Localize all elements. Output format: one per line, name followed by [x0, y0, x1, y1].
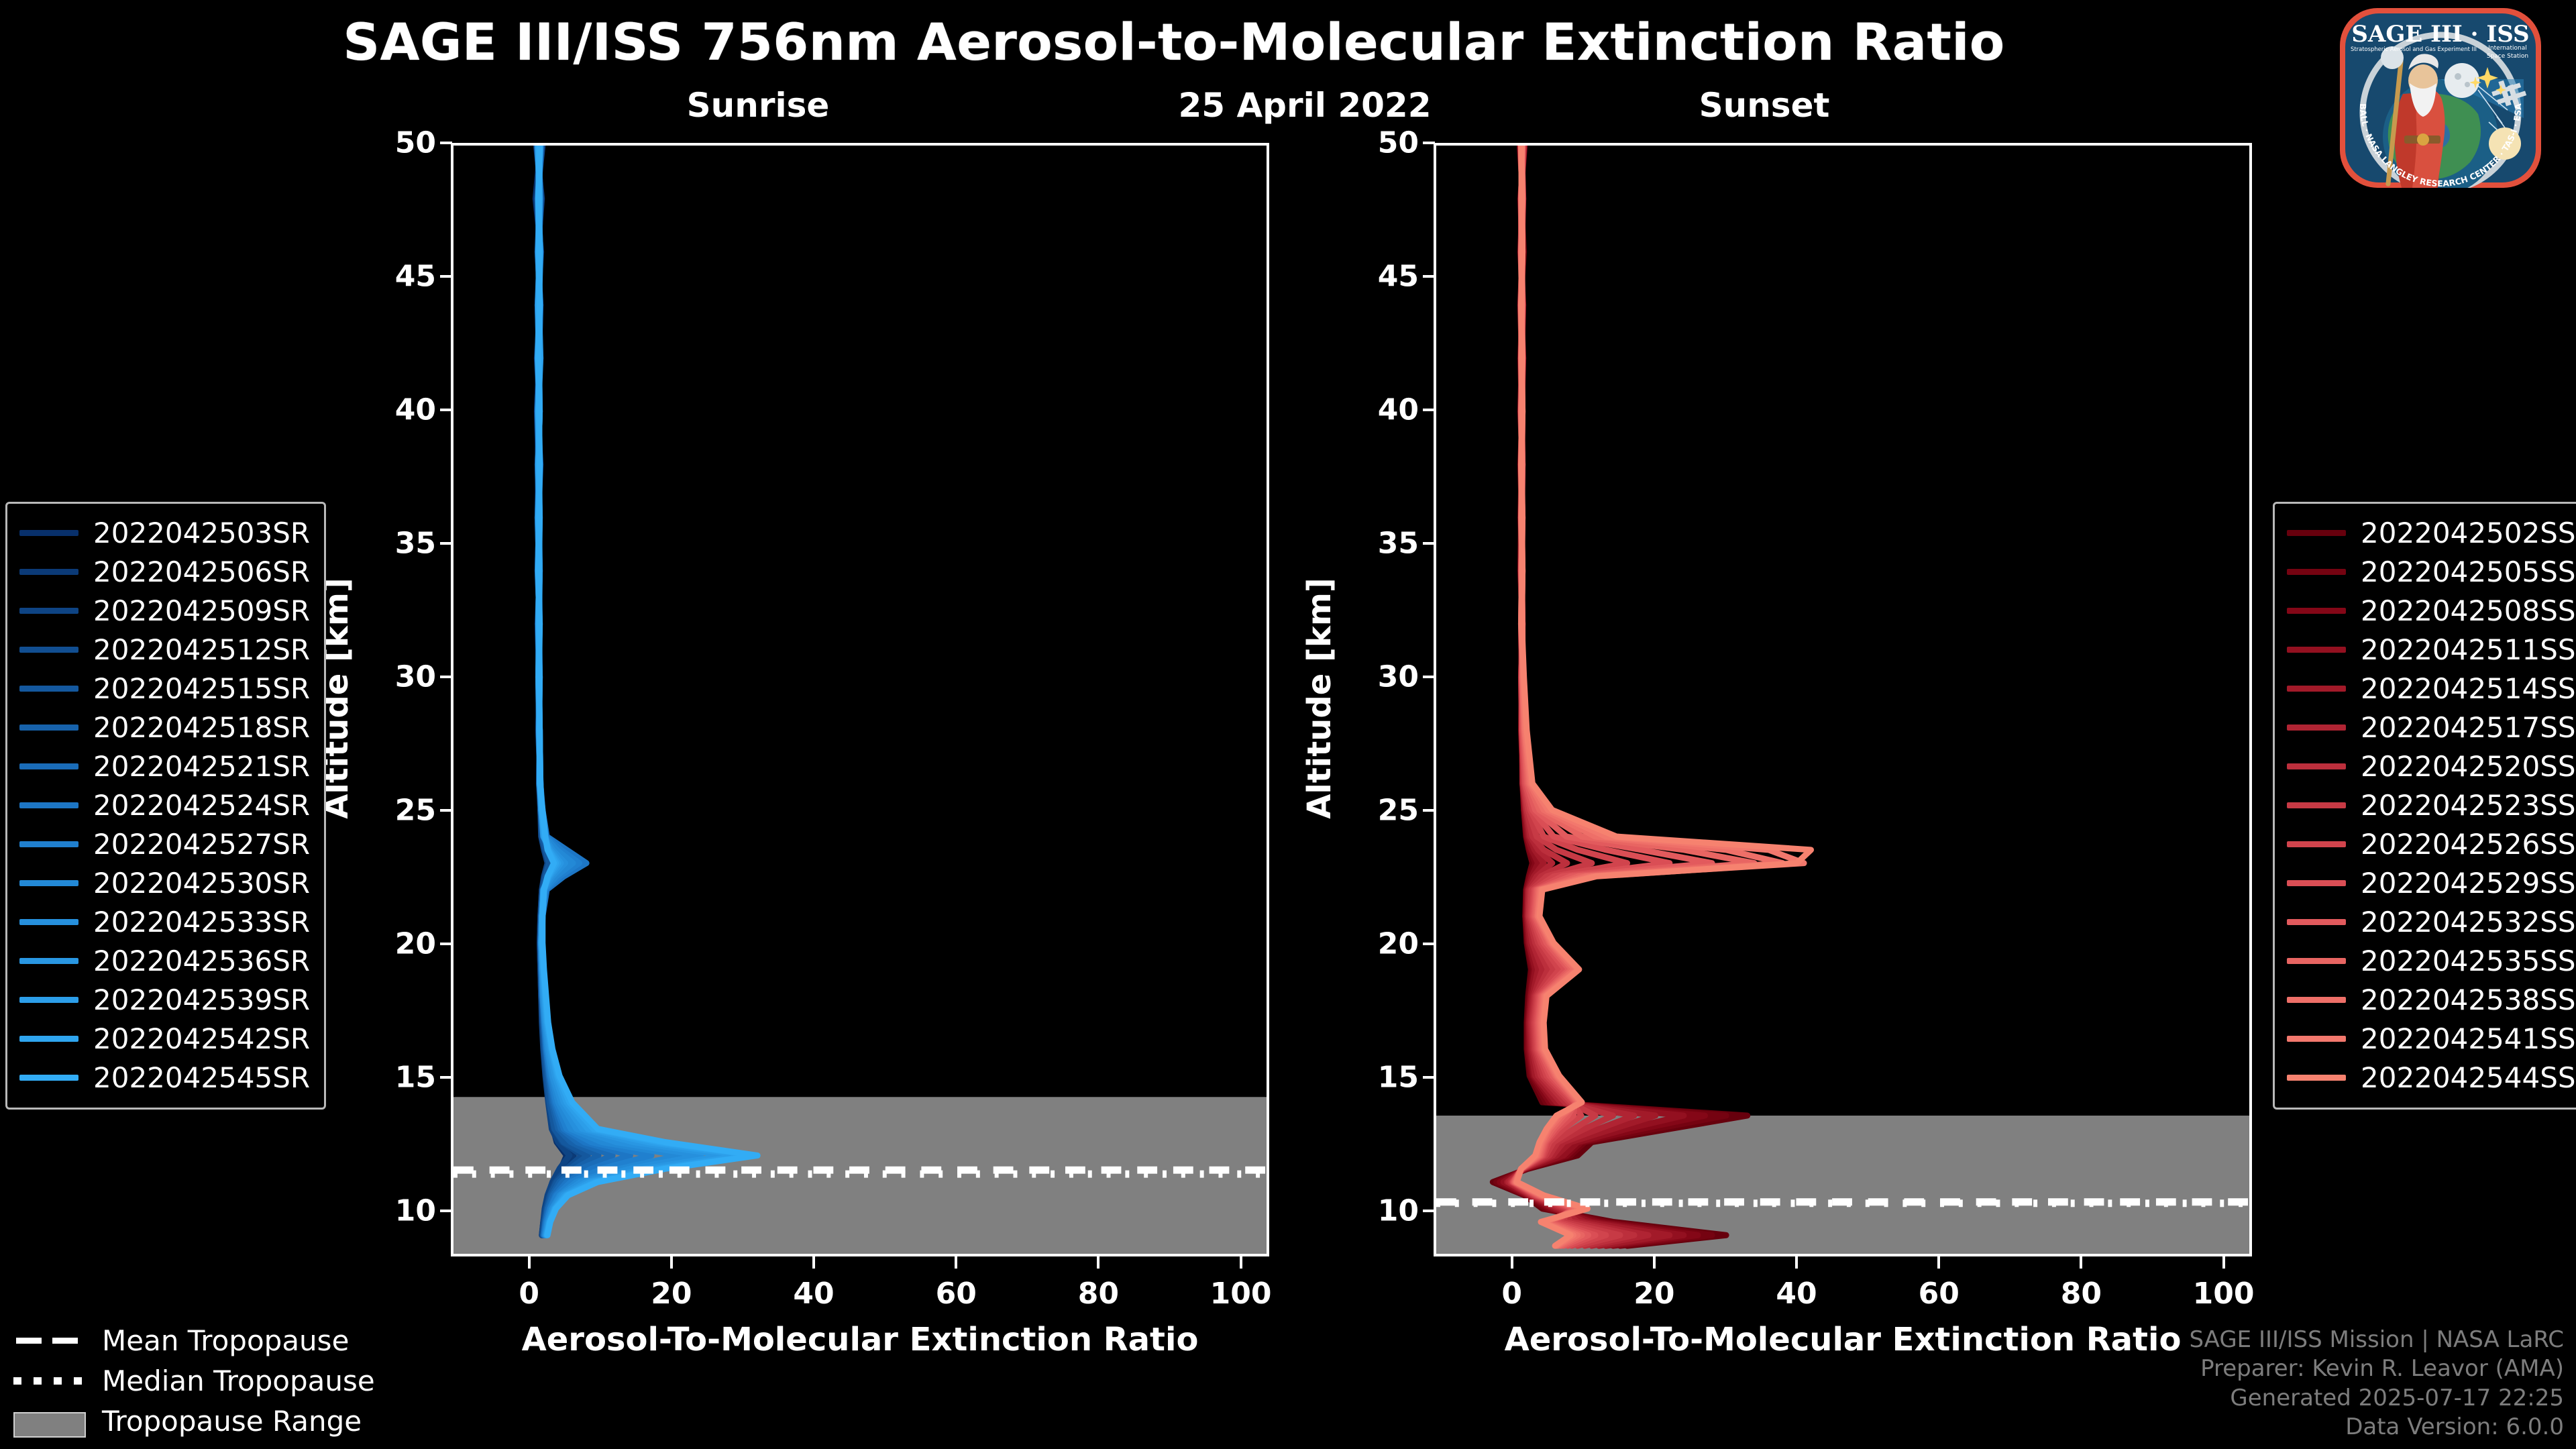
sunset-profile-chart: [1436, 146, 2249, 1254]
legend-item-2022042533sr[interactable]: 2022042533SR: [19, 902, 312, 941]
sunrise-series-legend[interactable]: 2022042503SR2022042506SR2022042509SR2022…: [5, 502, 326, 1110]
x-axis-tick-label: 40: [1776, 1277, 1817, 1311]
legend-item-2022042526ss[interactable]: 2022042526SS: [2287, 824, 2576, 863]
y-axis-tick-mark: [1423, 1210, 1435, 1212]
y-axis-tick-mark: [440, 676, 452, 678]
legend-series-label: 2022042527SR: [93, 828, 310, 861]
legend-series-label: 2022042542SR: [93, 1022, 310, 1055]
legend-series-label: 2022042514SS: [2361, 672, 2576, 705]
y-axis-tick-mark: [1423, 542, 1435, 545]
y-axis-title: Altitude [km]: [1301, 557, 1338, 839]
y-axis-tick-mark: [440, 809, 452, 812]
legend-series-label: 2022042530SR: [93, 867, 310, 900]
legend-item-mean-tropopause: Mean Tropopause: [13, 1320, 429, 1360]
legend-item-2022042517ss[interactable]: 2022042517SS: [2287, 708, 2576, 747]
legend-item-2022042514ss[interactable]: 2022042514SS: [2287, 669, 2576, 708]
x-axis-tick-label: 80: [1078, 1277, 1119, 1311]
legend-color-swatch: [2287, 880, 2346, 886]
legend-item-2022042506sr[interactable]: 2022042506SR: [19, 552, 312, 591]
y-axis-tick-mark: [440, 275, 452, 278]
legend-item-2022042521sr[interactable]: 2022042521SR: [19, 747, 312, 786]
x-axis-tick-mark: [1795, 1256, 1798, 1269]
x-axis-tick-label: 20: [651, 1277, 692, 1311]
y-axis-tick-label: 50: [1338, 126, 1434, 160]
y-axis-tick-label: 35: [356, 527, 451, 561]
y-axis-tick-label: 40: [356, 393, 451, 427]
legend-series-label: 2022042545SR: [93, 1061, 310, 1094]
legend-item-2022042509sr[interactable]: 2022042509SR: [19, 591, 312, 630]
legend-color-swatch: [19, 647, 78, 653]
legend-color-swatch: [19, 569, 78, 575]
legend-color-swatch: [2287, 919, 2346, 925]
x-axis-tick-mark: [1240, 1256, 1242, 1269]
legend-item-2022042524sr[interactable]: 2022042524SR: [19, 786, 312, 824]
legend-item-median-tropopause: Median Tropopause: [13, 1360, 429, 1401]
y-axis-tick-mark: [440, 1076, 452, 1079]
sunrise-x-axis: 020406080100Aerosol-To-Molecular Extinct…: [451, 1256, 1269, 1371]
x-axis-tick-mark: [2080, 1256, 2082, 1269]
sage-iii-iss-mission-patch-logo: SAGE III · ISS Stratospheric Aerosol and…: [2322, 5, 2559, 188]
legend-item-2022042527sr[interactable]: 2022042527SR: [19, 824, 312, 863]
legend-item-2022042545sr[interactable]: 2022042545SR: [19, 1058, 312, 1097]
legend-color-swatch: [19, 530, 78, 536]
logo-subtitle-right-1: International: [2488, 45, 2526, 52]
footer-line-generated: Generated 2025-07-17 22:25: [2189, 1384, 2564, 1413]
y-axis-tick-mark: [1423, 409, 1435, 411]
legend-series-label: 2022042518SR: [93, 711, 310, 744]
legend-item-2022042536sr[interactable]: 2022042536SR: [19, 941, 312, 980]
profile-line: [1517, 146, 1811, 1246]
legend-color-swatch: [2287, 1075, 2346, 1081]
page-title: SAGE III/ISS 756nm Aerosol-to-Molecular …: [0, 12, 2348, 72]
y-axis-tick-label: 40: [1338, 393, 1434, 427]
y-axis-tick-label: 30: [1338, 660, 1434, 694]
legend-color-swatch: [19, 997, 78, 1003]
legend-series-label: 2022042532SS: [2361, 906, 2576, 938]
footer-line-data-version: Data Version: 6.0.0: [2189, 1413, 2564, 1442]
sunrise-profile-chart: [453, 146, 1267, 1254]
legend-item-2022042502ss[interactable]: 2022042502SS: [2287, 513, 2576, 552]
y-axis-tick-label: 35: [1338, 527, 1434, 561]
legend-series-label: 2022042544SS: [2361, 1061, 2576, 1094]
legend-item-2022042535ss[interactable]: 2022042535SS: [2287, 941, 2576, 980]
legend-label-tropopause-range: Tropopause Range: [102, 1405, 362, 1438]
legend-color-swatch: [19, 958, 78, 964]
observation-date-label: 25 April 2022: [1087, 86, 1523, 125]
legend-color-swatch: [2287, 647, 2346, 653]
legend-series-label: 2022042511SS: [2361, 633, 2576, 666]
legend-color-swatch: [2287, 997, 2346, 1003]
profile-line: [538, 146, 743, 1235]
legend-series-label: 2022042533SR: [93, 906, 310, 938]
legend-color-swatch: [2287, 1036, 2346, 1042]
legend-item-2022042541ss[interactable]: 2022042541SS: [2287, 1019, 2576, 1058]
y-axis-tick-label: 10: [356, 1194, 451, 1228]
legend-color-swatch: [2287, 724, 2346, 731]
legend-color-swatch: [2287, 763, 2346, 769]
legend-item-2022042508ss[interactable]: 2022042508SS: [2287, 591, 2576, 630]
y-axis-tick-mark: [440, 542, 452, 545]
legend-series-label: 2022042506SR: [93, 555, 310, 588]
legend-color-swatch: [19, 1075, 78, 1081]
legend-series-label: 2022042536SR: [93, 945, 310, 977]
legend-item-2022042538ss[interactable]: 2022042538SS: [2287, 980, 2576, 1019]
y-axis-tick-mark: [440, 1210, 452, 1212]
legend-item-2022042544ss[interactable]: 2022042544SS: [2287, 1058, 2576, 1097]
y-axis-tick-mark: [440, 943, 452, 945]
x-axis-tick-label: 60: [1919, 1277, 1960, 1311]
legend-color-swatch: [2287, 686, 2346, 692]
logo-subtitle-right-2: Space Station: [2487, 53, 2528, 60]
legend-item-2022042539sr[interactable]: 2022042539SR: [19, 980, 312, 1019]
sunrise-panel-label: Sunrise: [617, 86, 899, 125]
legend-series-label: 2022042517SS: [2361, 711, 2576, 744]
y-axis-tick-mark: [1423, 275, 1435, 278]
x-axis-tick-mark: [955, 1256, 957, 1269]
sunset-panel-label: Sunset: [1623, 86, 1905, 125]
legend-color-swatch: [2287, 841, 2346, 847]
legend-color-swatch: [2287, 802, 2346, 808]
legend-series-label: 2022042505SS: [2361, 555, 2576, 588]
x-axis-tick-label: 20: [1633, 1277, 1674, 1311]
legend-item-2022042529ss[interactable]: 2022042529SS: [2287, 863, 2576, 902]
legend-series-label: 2022042523SS: [2361, 789, 2576, 822]
y-axis-tick-label: 30: [356, 660, 451, 694]
sunset-plot-frame: [1434, 143, 2252, 1256]
legend-color-swatch: [19, 841, 78, 847]
sunset-y-axis: 101520253035404550Altitude [km]: [1333, 143, 1434, 1256]
legend-series-label: 2022042535SS: [2361, 945, 2576, 977]
sunset-series-legend[interactable]: 2022042502SS2022042505SS2022042508SS2022…: [2273, 502, 2576, 1110]
legend-series-label: 2022042529SS: [2361, 867, 2576, 900]
legend-series-label: 2022042508SS: [2361, 594, 2576, 627]
y-axis-tick-mark: [1423, 142, 1435, 144]
x-axis-tick-mark: [812, 1256, 815, 1269]
legend-label-mean-tropopause: Mean Tropopause: [102, 1324, 349, 1357]
legend-item-2022042523ss[interactable]: 2022042523SS: [2287, 786, 2576, 824]
legend-color-swatch: [2287, 530, 2346, 536]
x-axis-tick-mark: [1653, 1256, 1656, 1269]
sunrise-plot-panel: 101520253035404550Altitude [km] 02040608…: [451, 143, 1269, 1256]
y-axis-tick-label: 45: [356, 260, 451, 294]
legend-series-label: 2022042512SR: [93, 633, 310, 666]
profile-line: [538, 146, 753, 1235]
legend-series-label: 2022042524SR: [93, 789, 310, 822]
y-axis-tick-mark: [1423, 676, 1435, 678]
sunrise-plot-frame: [451, 143, 1269, 1256]
legend-series-label: 2022042539SR: [93, 983, 310, 1016]
legend-item-tropopause-range: Tropopause Range: [13, 1401, 429, 1441]
x-axis-tick-label: 0: [1501, 1277, 1522, 1311]
dotted-line-icon: [13, 1372, 87, 1389]
legend-series-label: 2022042520SS: [2361, 750, 2576, 783]
logo-subtitle-left: Stratospheric Aerosol and Gas Experiment…: [2351, 46, 2477, 52]
y-axis-tick-label: 20: [1338, 927, 1434, 961]
y-axis-tick-mark: [1423, 1076, 1435, 1079]
x-axis-tick-mark: [670, 1256, 673, 1269]
legend-color-swatch: [2287, 958, 2346, 964]
profile-line: [538, 146, 757, 1235]
x-axis-tick-mark: [1097, 1256, 1099, 1269]
x-axis-tick-label: 40: [793, 1277, 834, 1311]
dashed-line-icon: [13, 1332, 87, 1349]
profile-line: [537, 146, 725, 1235]
profile-line: [537, 146, 700, 1235]
x-axis-tick-mark: [2222, 1256, 2225, 1269]
x-axis-tick-mark: [1937, 1256, 1940, 1269]
footer-line-preparer: Preparer: Kevin R. Leavor (AMA): [2189, 1354, 2564, 1384]
y-axis-tick-mark: [1423, 809, 1435, 812]
x-axis-tick-mark: [1511, 1256, 1513, 1269]
y-axis-tick-mark: [1423, 943, 1435, 945]
profile-line: [1497, 146, 1727, 1246]
legend-series-label: 2022042503SR: [93, 517, 310, 549]
x-axis-tick-label: 100: [2193, 1277, 2255, 1311]
y-axis-tick-label: 10: [1338, 1194, 1434, 1228]
legend-item-2022042512sr[interactable]: 2022042512SR: [19, 630, 312, 669]
x-axis-tick-label: 0: [519, 1277, 539, 1311]
legend-item-2022042515sr[interactable]: 2022042515SR: [19, 669, 312, 708]
legend-series-label: 2022042538SS: [2361, 983, 2576, 1016]
legend-color-swatch: [19, 763, 78, 769]
y-axis-tick-label: 25: [1338, 794, 1434, 828]
y-axis-tick-label: 15: [1338, 1061, 1434, 1095]
legend-series-label: 2022042526SS: [2361, 828, 2576, 861]
legend-item-2022042530sr[interactable]: 2022042530SR: [19, 863, 312, 902]
legend-item-2022042505ss[interactable]: 2022042505SS: [2287, 552, 2576, 591]
legend-color-swatch: [19, 802, 78, 808]
y-axis-tick-label: 15: [356, 1061, 451, 1095]
legend-color-swatch: [19, 724, 78, 731]
legend-label-median-tropopause: Median Tropopause: [102, 1364, 375, 1397]
legend-item-2022042520ss[interactable]: 2022042520SS: [2287, 747, 2576, 786]
y-axis-tick-label: 25: [356, 794, 451, 828]
legend-item-2022042511ss[interactable]: 2022042511SS: [2287, 630, 2576, 669]
x-axis-tick-label: 60: [936, 1277, 977, 1311]
legend-color-swatch: [19, 608, 78, 614]
sunrise-y-axis: 101520253035404550Altitude [km]: [350, 143, 451, 1256]
legend-color-swatch: [19, 1036, 78, 1042]
y-axis-tick-label: 20: [356, 927, 451, 961]
x-axis-tick-mark: [528, 1256, 531, 1269]
x-axis-title: Aerosol-To-Molecular Extinction Ratio: [451, 1321, 1269, 1358]
legend-series-label: 2022042509SR: [93, 594, 310, 627]
logo-title-text: SAGE III · ISS: [2351, 21, 2529, 48]
sunset-x-axis: 020406080100Aerosol-To-Molecular Extinct…: [1434, 1256, 2252, 1371]
legend-color-swatch: [19, 919, 78, 925]
filled-box-icon: [13, 1412, 87, 1430]
footer-line-mission: SAGE III/ISS Mission | NASA LaRC: [2189, 1326, 2564, 1355]
sunset-plot-panel: 101520253035404550Altitude [km] 02040608…: [1434, 143, 2252, 1256]
tropopause-legend: Mean Tropopause Median Tropopause Tropop…: [13, 1320, 429, 1441]
legend-series-label: 2022042515SR: [93, 672, 310, 705]
y-axis-tick-label: 50: [356, 126, 451, 160]
legend-series-label: 2022042541SS: [2361, 1022, 2576, 1055]
legend-color-swatch: [2287, 608, 2346, 614]
legend-item-2022042542sr[interactable]: 2022042542SR: [19, 1019, 312, 1058]
x-axis-tick-label: 100: [1210, 1277, 1272, 1311]
footer-credits: SAGE III/ISS Mission | NASA LaRC Prepare…: [2189, 1326, 2564, 1442]
legend-color-swatch: [19, 880, 78, 886]
x-axis-title: Aerosol-To-Molecular Extinction Ratio: [1434, 1321, 2252, 1358]
y-axis-tick-label: 45: [1338, 260, 1434, 294]
x-axis-tick-label: 80: [2061, 1277, 2102, 1311]
y-axis-tick-mark: [440, 142, 452, 144]
legend-item-2022042518sr[interactable]: 2022042518SR: [19, 708, 312, 747]
legend-color-swatch: [19, 686, 78, 692]
y-axis-tick-mark: [440, 409, 452, 411]
legend-item-2022042503sr[interactable]: 2022042503SR: [19, 513, 312, 552]
profile-line: [1516, 146, 1804, 1246]
legend-series-label: 2022042502SS: [2361, 517, 2576, 549]
legend-series-label: 2022042521SR: [93, 750, 310, 783]
legend-color-swatch: [2287, 569, 2346, 575]
legend-item-2022042532ss[interactable]: 2022042532SS: [2287, 902, 2576, 941]
